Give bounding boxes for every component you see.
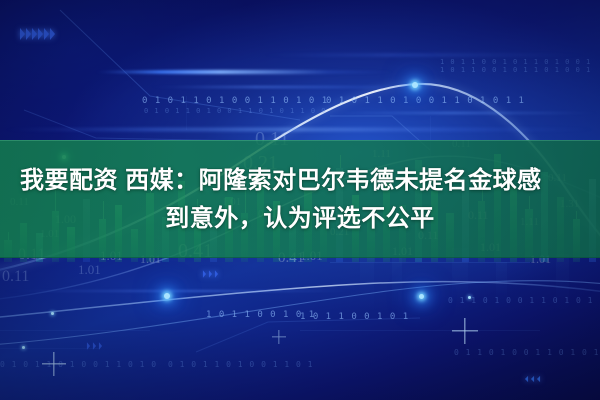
band-bottom-edge	[0, 257, 600, 258]
headline-line-1: 我要配资 西媒：阿隆索对巴尔韦德未提名金球感	[0, 162, 600, 200]
band-top-edge	[0, 140, 600, 141]
headline-line-2: 到意外，认为评选不公平	[0, 200, 600, 238]
news-banner: 0.110.210.410.411.001.011.010.110.111.01…	[0, 0, 600, 400]
page-title: 我要配资 西媒：阿隆索对巴尔韦德未提名金球感 到意外，认为评选不公平	[0, 162, 600, 238]
